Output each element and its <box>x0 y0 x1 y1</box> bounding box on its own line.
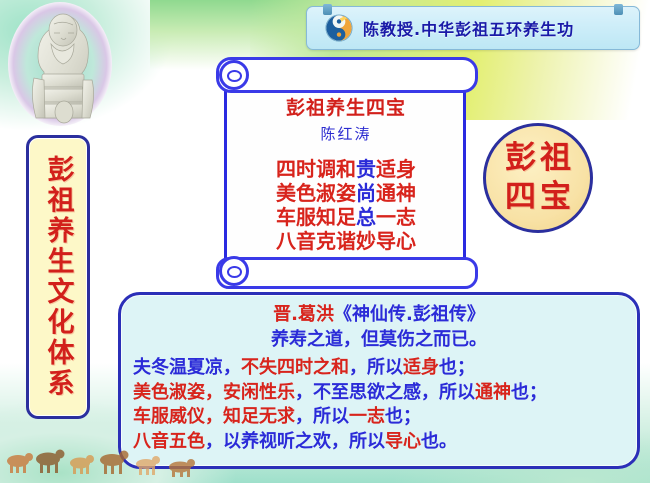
seal-characters: 彭祖四宝 <box>505 139 571 217</box>
text-run: 晋.葛洪 <box>273 304 334 325</box>
quote-subtitle: 养寿之道，但莫伤之而已。 <box>271 328 487 351</box>
banner-knob-right <box>614 4 623 15</box>
text-run: ，所以 <box>349 357 403 378</box>
poem-line: 八音克谐妙导心 <box>276 230 416 253</box>
text-run: 导心 <box>376 229 416 253</box>
scroll-curl-top-left <box>219 60 249 90</box>
banner-knob-left <box>323 4 332 15</box>
text-run: 导心 <box>385 431 421 452</box>
seal-character: 宝 <box>540 178 571 217</box>
text-run: 《神仙传.彭祖传》 <box>334 304 485 325</box>
quote-line: 美色淑姿，安闲性乐，不至思欲之感，所以通神也； <box>133 381 547 405</box>
text-run: 也。 <box>421 431 457 452</box>
seal-character: 四 <box>505 178 536 217</box>
poem-line: 车服知足总一志 <box>276 206 416 229</box>
text-run: 八音克谐妙 <box>276 229 376 253</box>
header-banner: 陈教授.中华彭祖五环养生功 <box>306 6 640 50</box>
seal-character: 彭 <box>505 139 536 178</box>
text-run: 美色淑姿 <box>276 181 356 205</box>
text-run: 美色淑姿，安闲性乐 <box>133 382 295 403</box>
text-run: 总 <box>356 205 376 229</box>
text-run: 通神 <box>475 382 511 403</box>
text-run: 也； <box>511 382 547 403</box>
poem-author: 陈红涛 <box>320 123 371 144</box>
pengzu-four-treasures-seal: 彭祖四宝 <box>483 123 593 233</box>
text-run: 尚 <box>356 181 376 205</box>
poem-scroll: 彭祖养生四宝 陈红涛 四时调和贵适身美色淑姿尚通神车服知足总一志八音克谐妙导心 <box>216 57 476 289</box>
seal-character: 祖 <box>540 139 571 178</box>
text-run: ，不至思欲之感，所以 <box>295 382 475 403</box>
poem-line: 四时调和贵适身 <box>276 158 416 181</box>
text-run: 一志 <box>376 205 416 229</box>
text-run: ，以养视听之欢，所以 <box>205 431 385 452</box>
slide-canvas: 陈教授.中华彭祖五环养生功 彭祖养生文化体系 彭祖养生四宝 陈红涛 四时调和贵适… <box>0 0 650 483</box>
text-run: 一志 <box>349 406 385 427</box>
text-run: 夫冬温夏凉， <box>133 357 241 378</box>
taiji-yinyang-icon <box>325 14 353 42</box>
text-run: ，所以 <box>295 406 349 427</box>
text-run: 适身 <box>403 357 439 378</box>
text-run: 车服知足 <box>276 205 356 229</box>
poem-title: 彭祖养生四宝 <box>286 93 406 120</box>
scroll-content: 彭祖养生四宝 陈红涛 四时调和贵适身美色淑姿尚通神车服知足总一志八音克谐妙导心 <box>230 91 462 271</box>
text-run: 适身 <box>376 157 416 181</box>
text-run: 也； <box>439 357 475 378</box>
poem-line-list: 四时调和贵适身美色淑姿尚通神车服知足总一志八音克谐妙导心 <box>276 158 416 253</box>
left-vertical-banner-text: 彭祖养生文化体系 <box>35 144 81 410</box>
quote-source: 晋.葛洪《神仙传.彭祖传》 <box>273 303 485 326</box>
scroll-top-roller <box>216 57 478 93</box>
stone-statue-portrait-icon <box>4 0 116 128</box>
quote-inner: 晋.葛洪《神仙传.彭祖传》 养寿之道，但莫伤之而已。 夫冬温夏凉，不失四时之和，… <box>131 303 627 458</box>
text-run: 四时调和 <box>276 157 356 181</box>
left-vertical-banner: 彭祖养生文化体系 <box>26 135 90 419</box>
text-run: 车服威仪，知足无求 <box>133 406 295 427</box>
text-run: 贵 <box>356 157 376 181</box>
poem-line: 美色淑姿尚通神 <box>276 182 416 205</box>
cattle-herd-icon <box>0 437 210 479</box>
quote-line: 夫冬温夏凉，不失四时之和，所以适身也； <box>133 356 475 380</box>
text-run: 不失四时之和 <box>241 357 349 378</box>
text-run: 通神 <box>376 181 416 205</box>
quote-line: 车服威仪，知足无求，所以一志也； <box>133 405 421 429</box>
header-title: 陈教授.中华彭祖五环养生功 <box>363 16 574 40</box>
text-run: 也； <box>385 406 421 427</box>
